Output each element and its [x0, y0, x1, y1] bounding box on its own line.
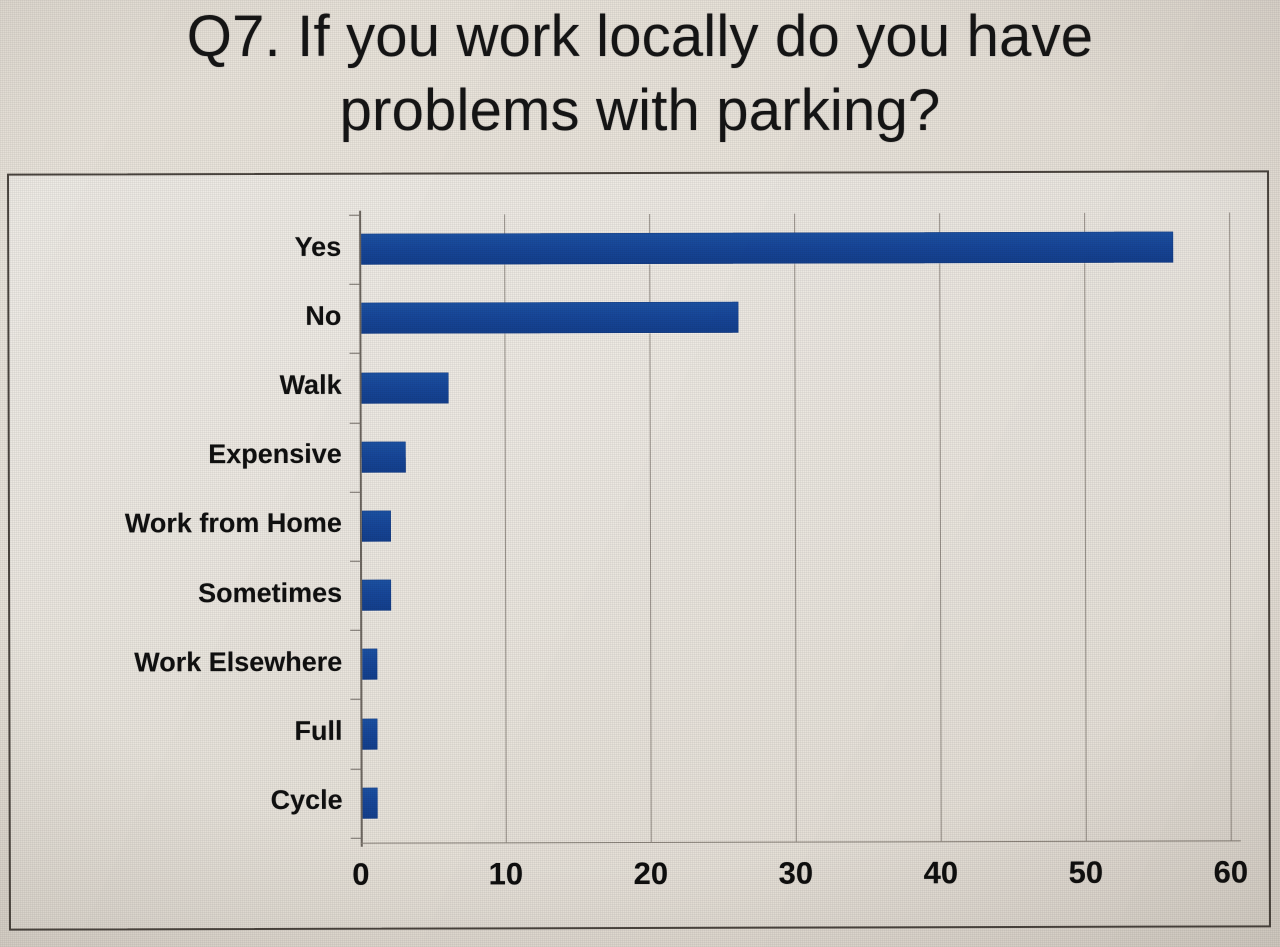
y-axis-tick-5 [350, 561, 361, 562]
gridline-50 [1084, 213, 1087, 841]
x-axis-line [361, 840, 1241, 843]
bar-sometimes[interactable] [362, 580, 391, 611]
category-label-expensive: Expensive [10, 439, 360, 471]
category-label-full: Full [10, 716, 360, 748]
category-label-cycle: Cycle [11, 785, 361, 817]
category-label-work-elsewhere: Work Elsewhere [10, 647, 360, 679]
gridline-40 [939, 213, 942, 841]
x-tick-label-30: 30 [751, 855, 841, 891]
category-label-work-from-home: Work from Home [10, 508, 360, 540]
y-axis-tick-9 [351, 838, 362, 839]
x-axis-tick-labels: 0102030405060 [9, 172, 1267, 175]
category-label-yes: Yes [9, 231, 359, 263]
chart-title-line-2: problems with parking? [0, 82, 1280, 140]
x-tick-label-60: 60 [1186, 854, 1276, 890]
plot-area: YesNoWalkExpensiveWork from HomeSometime… [9, 172, 1269, 928]
y-axis-tick-3 [350, 422, 361, 423]
chart-title-line-1: Q7. If you work locally do you have [0, 8, 1280, 66]
bar-full[interactable] [362, 718, 377, 749]
bar-series [9, 172, 1267, 175]
category-label-walk: Walk [10, 370, 360, 402]
x-tick-label-40: 40 [896, 855, 986, 891]
gridlines [9, 172, 1267, 175]
y-axis-tick-4 [350, 492, 361, 493]
bar-work-elsewhere[interactable] [362, 649, 377, 680]
y-axis-tick-2 [349, 353, 360, 354]
y-axis-tick-6 [350, 630, 361, 631]
x-tick-label-50: 50 [1041, 855, 1131, 891]
x-tick-label-0: 0 [316, 857, 406, 893]
category-label-no: No [9, 301, 359, 333]
bar-cycle[interactable] [363, 787, 378, 818]
bar-no[interactable] [361, 302, 738, 334]
gridline-60 [1229, 212, 1232, 840]
chart-frame: YesNoWalkExpensiveWork from HomeSometime… [7, 170, 1271, 930]
category-labels: YesNoWalkExpensiveWork from HomeSometime… [9, 172, 1267, 175]
y-axis-tick-7 [350, 699, 361, 700]
x-tick-label-20: 20 [606, 856, 696, 892]
y-axis-ticks [9, 172, 1267, 175]
bar-expensive[interactable] [362, 441, 406, 472]
bar-walk[interactable] [362, 372, 449, 403]
gridline-30 [794, 214, 797, 842]
x-tick-label-10: 10 [461, 856, 551, 892]
y-axis-tick-8 [351, 768, 362, 769]
category-label-sometimes: Sometimes [10, 577, 360, 609]
chart-title: Q7. If you work locally do you have prob… [0, 0, 1280, 140]
y-axis-tick-1 [349, 284, 360, 285]
bar-yes[interactable] [361, 232, 1173, 265]
y-axis-tick-0 [349, 215, 360, 216]
bar-work-from-home[interactable] [362, 511, 391, 542]
